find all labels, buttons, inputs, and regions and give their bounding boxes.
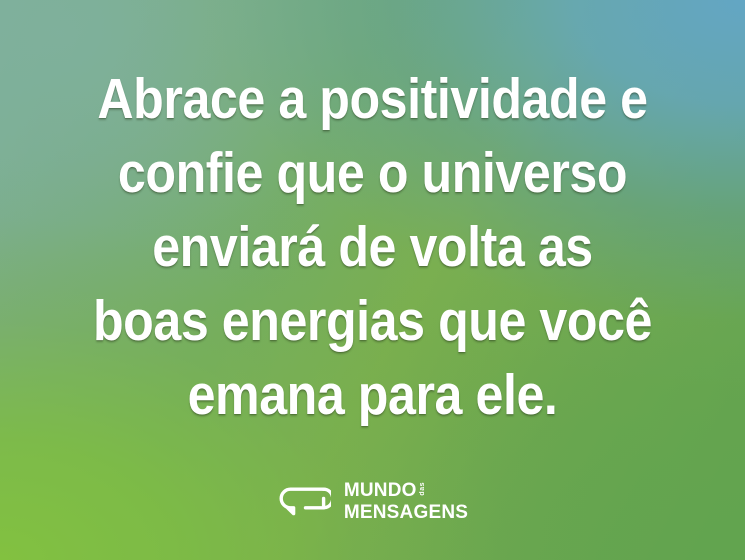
brand-word-mensagens: MENSAGENS (344, 503, 468, 522)
quote-card: Abrace a positividade e confie que o uni… (0, 0, 745, 560)
quote-line-2: confie que o universo (68, 136, 678, 210)
brand-word-das: das (419, 482, 426, 496)
quote-line-4: boas energias que você (68, 284, 678, 358)
quote-line-1: Abrace a positividade e (68, 62, 678, 136)
quote-line-5: emana para ele. (68, 358, 678, 432)
speech-bubble-icon (277, 486, 331, 517)
quote-line-3: enviará de volta as (68, 210, 678, 284)
brand-logo: MUNDO das MENSAGENS (0, 481, 745, 522)
brand-wordmark: MUNDO das MENSAGENS (344, 481, 468, 522)
brand-word-mundo: MUNDO (344, 481, 417, 500)
brand-wordmark-top-row: MUNDO das (344, 481, 468, 503)
quote-text: Abrace a positividade e confie que o uni… (0, 62, 745, 432)
